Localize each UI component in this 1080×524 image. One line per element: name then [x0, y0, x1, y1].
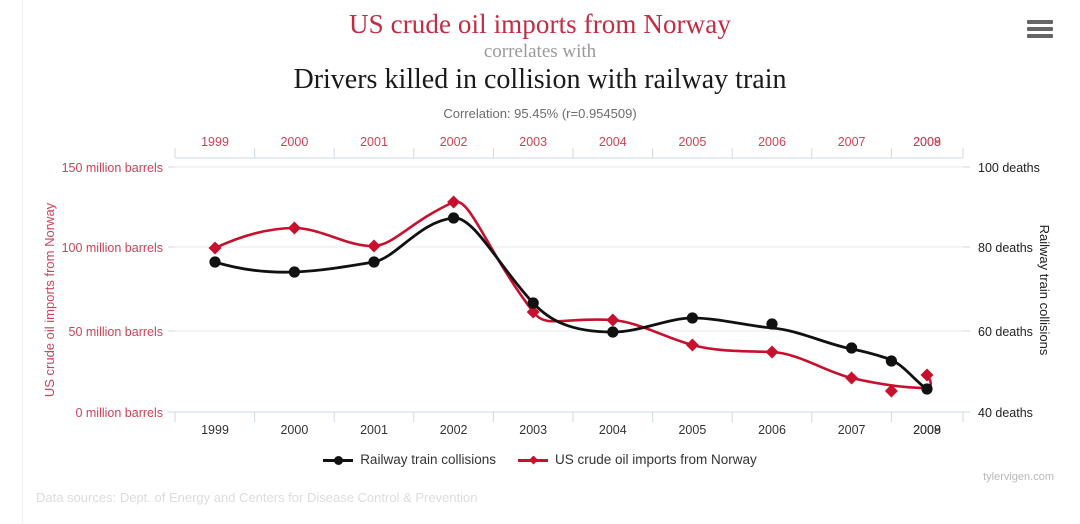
legend-marker-diamond-icon: [518, 454, 548, 466]
marker-rail-2006[interactable]: [766, 318, 777, 329]
yaxis-right-title: Railway train collisions: [1037, 225, 1052, 356]
marker-rail-2009[interactable]: [921, 383, 932, 394]
marker-oil-2006[interactable]: [766, 346, 779, 359]
tick-top-2000: 2000: [280, 135, 308, 149]
marker-oil-2005[interactable]: [686, 339, 699, 352]
tick-right-80: 80 deaths: [978, 241, 1033, 255]
marker-rail-2008[interactable]: [886, 355, 897, 366]
marker-rail-2002[interactable]: [448, 212, 459, 223]
legend-item-railway-collisions[interactable]: Railway train collisions: [323, 452, 496, 467]
tick-left-0: 0 million barrels: [75, 406, 163, 420]
tick-bottom-2004: 2004: [599, 423, 627, 437]
marker-rail-2005[interactable]: [687, 312, 698, 323]
tick-top-2008: 2008: [913, 135, 941, 149]
tick-top-1999: 1999: [201, 135, 229, 149]
marker-rail-2007[interactable]: [846, 342, 857, 353]
series-line-oil-imports: [215, 202, 931, 388]
marker-oil-2007[interactable]: [845, 372, 858, 385]
chart-axis-bottom: [175, 412, 963, 422]
yaxis-left-title: US crude oil imports from Norway: [42, 202, 57, 397]
chart-yaxis-right-labels: 100 deaths 80 deaths 60 deaths 40 deaths: [978, 161, 1040, 420]
tick-top-2004: 2004: [599, 135, 627, 149]
tick-bottom-2000: 2000: [280, 423, 308, 437]
tick-bottom-2007: 2007: [838, 423, 866, 437]
tick-bottom-2008: 2008: [913, 423, 941, 437]
tick-bottom-2005: 2005: [678, 423, 706, 437]
marker-rail-1999[interactable]: [209, 256, 220, 267]
legend-item-oil-imports[interactable]: US crude oil imports from Norway: [518, 452, 757, 467]
tick-left-50: 50 million barrels: [69, 325, 163, 339]
legend-label-oil-imports: US crude oil imports from Norway: [555, 452, 757, 467]
chart-xaxis-top-labels: 1999 2000 2001 2002 2003 2004 2005 2006 …: [201, 135, 941, 149]
marker-rail-2001[interactable]: [368, 256, 379, 267]
marker-oil-2009[interactable]: [921, 369, 934, 382]
tick-top-2005: 2005: [678, 135, 706, 149]
tick-top-2002: 2002: [440, 135, 468, 149]
tick-left-150: 150 million barrels: [62, 161, 163, 175]
tick-top-2007: 2007: [838, 135, 866, 149]
chart-area: 1999 2000 2001 2002 2003 2004 2005 2006 …: [0, 0, 1080, 524]
marker-oil-2000[interactable]: [288, 222, 301, 235]
tick-top-2001: 2001: [360, 135, 388, 149]
tick-bottom-2001: 2001: [360, 423, 388, 437]
chart-svg: 1999 2000 2001 2002 2003 2004 2005 2006 …: [0, 0, 1080, 524]
legend-label-railway-collisions: Railway train collisions: [360, 452, 496, 467]
marker-rail-2004[interactable]: [607, 326, 618, 337]
tick-bottom-2006: 2006: [758, 423, 786, 437]
tick-bottom-2002: 2002: [440, 423, 468, 437]
tick-bottom-1999: 1999: [201, 423, 229, 437]
tick-right-100: 100 deaths: [978, 161, 1040, 175]
marker-oil-2004[interactable]: [606, 314, 619, 327]
tick-bottom-2003: 2003: [519, 423, 547, 437]
tick-top-2006: 2006: [758, 135, 786, 149]
tick-right-60: 60 deaths: [978, 325, 1033, 339]
chart-gridlines: [175, 167, 963, 331]
marker-oil-2001[interactable]: [368, 240, 381, 253]
chart-axis-left-ticks: [168, 167, 175, 412]
chart-xaxis-bottom-labels: 1999 2000 2001 2002 2003 2004 2005 2006 …: [201, 423, 941, 437]
tick-top-2003: 2003: [519, 135, 547, 149]
marker-rail-2003[interactable]: [528, 297, 539, 308]
chart-axis-right-ticks: [963, 167, 970, 412]
chart-axis-top: [175, 148, 963, 158]
site-credit: tylervigen.com: [983, 471, 1054, 483]
legend-marker-circle-icon: [323, 454, 353, 466]
marker-oil-1999[interactable]: [209, 242, 222, 255]
tick-left-100: 100 million barrels: [62, 241, 163, 255]
series-line-railway-collisions: [215, 218, 927, 389]
chart-page: US crude oil imports from Norway correla…: [0, 0, 1080, 524]
marker-oil-2002[interactable]: [447, 196, 460, 209]
marker-rail-2000[interactable]: [289, 266, 300, 277]
chart-legend: Railway train collisions US crude oil im…: [0, 452, 1080, 467]
data-sources-note: Data sources: Dept. of Energy and Center…: [36, 490, 478, 505]
tick-right-40: 40 deaths: [978, 406, 1033, 420]
chart-yaxis-left-labels: 150 million barrels 100 million barrels …: [62, 161, 163, 420]
